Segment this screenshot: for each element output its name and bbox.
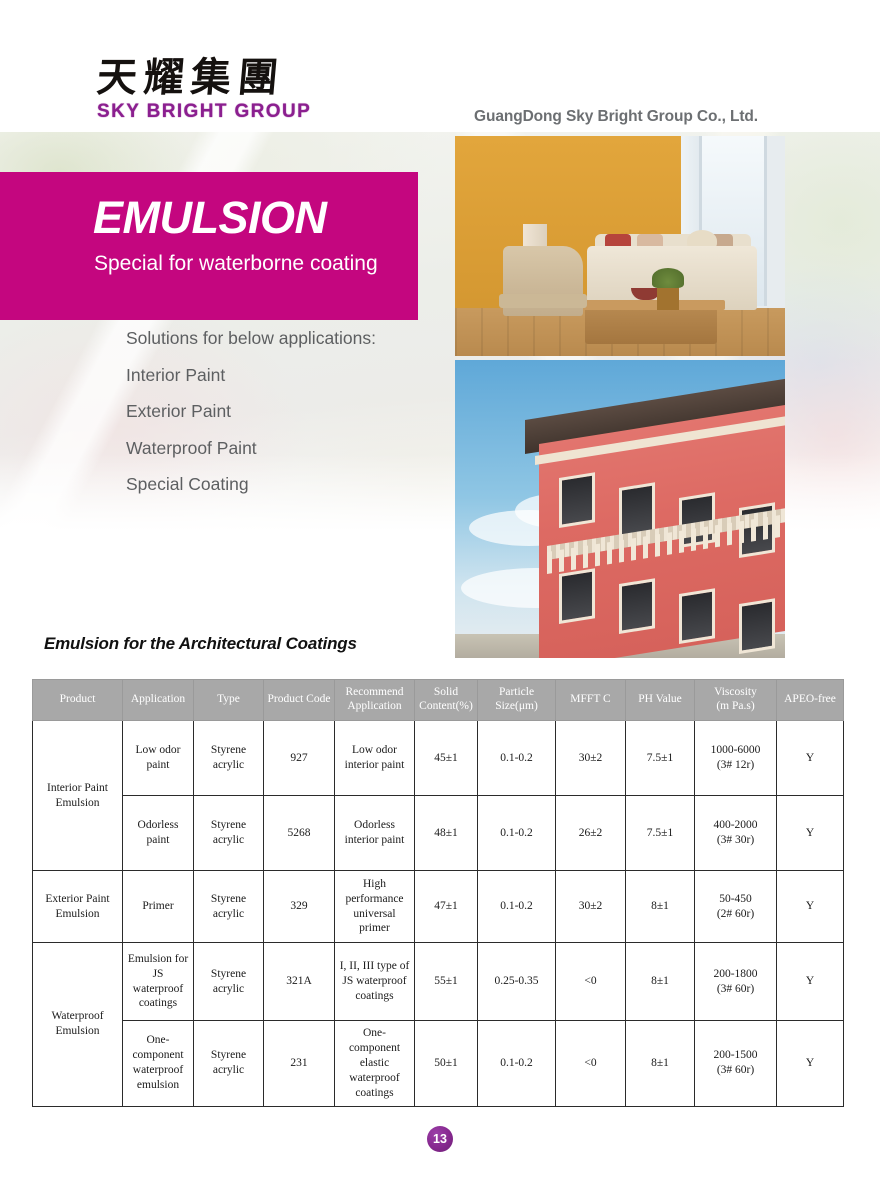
- col-header-application: Application: [123, 680, 194, 721]
- cell-viscosity-range: 200-1500: [713, 1049, 757, 1061]
- cell-ph-value: 8±1: [626, 871, 695, 943]
- col-header-viscosity: Viscosity (m Pa.s): [695, 680, 777, 721]
- cell-apeo-free: Y: [777, 871, 844, 943]
- cell-viscosity: 1000-6000 (3# 12r): [695, 721, 777, 796]
- cell-type: Styrene acrylic: [194, 871, 264, 943]
- cell-ph-value: 8±1: [626, 1021, 695, 1107]
- cell-viscosity-spindle: (3# 12r): [717, 759, 754, 771]
- col-header-solid-line2: Content(%): [419, 700, 473, 712]
- col-header-viscosity-line1: Viscosity: [714, 686, 757, 698]
- building-window-8: [739, 598, 775, 654]
- cell-apeo-free: Y: [777, 721, 844, 796]
- col-header-recommend-line2: Application: [347, 700, 401, 712]
- col-header-recommend-line1: Recommend: [345, 686, 403, 698]
- cell-particle-size: 0.1-0.2: [478, 871, 556, 943]
- logo-chinese-text: 天耀集團: [95, 58, 368, 98]
- cell-viscosity: 200-1500 (3# 60r): [695, 1021, 777, 1107]
- col-header-mfft: MFFT C: [556, 680, 626, 721]
- cell-type: Styrene acrylic: [194, 796, 264, 871]
- exterior-building-photo: [455, 360, 785, 658]
- cell-viscosity-range: 400-2000: [713, 819, 757, 831]
- cell-viscosity: 50-450 (2# 60r): [695, 871, 777, 943]
- col-header-particle-size: Particle Size(μm): [478, 680, 556, 721]
- col-header-product: Product: [33, 680, 123, 721]
- cell-viscosity-range: 1000-6000: [711, 744, 761, 756]
- cell-recommend-application: Low odor interior paint: [335, 721, 415, 796]
- cell-product-code: 329: [264, 871, 335, 943]
- cell-viscosity-range: 200-1800: [713, 968, 757, 980]
- table-row: Odorless paint Styrene acrylic 5268 Odor…: [33, 796, 844, 871]
- table-row: Interior Paint Emulsion Low odor paint S…: [33, 721, 844, 796]
- col-header-product-code: Product Code: [264, 680, 335, 721]
- building-window-6: [619, 578, 655, 634]
- cell-viscosity: 400-2000 (3# 30r): [695, 796, 777, 871]
- cell-recommend-application: High performance universal primer: [335, 871, 415, 943]
- col-header-solid-line1: Solid: [434, 686, 458, 698]
- cell-viscosity-spindle: (2# 60r): [717, 908, 754, 920]
- cell-solid-content: 45±1: [415, 721, 478, 796]
- room-armchair-seat: [499, 294, 587, 308]
- cell-particle-size: 0.1-0.2: [478, 721, 556, 796]
- table-header-row: Product Application Type Product Code Re…: [33, 680, 844, 721]
- building-scene: [455, 360, 785, 658]
- cell-ph-value: 7.5±1: [626, 796, 695, 871]
- cell-product-group-interior: Interior Paint Emulsion: [33, 721, 123, 871]
- applications-list: Solutions for below applications: Interi…: [126, 330, 446, 513]
- room-scene: [455, 136, 785, 356]
- catalog-page: 天耀集團 SKY BRIGHT GROUP GuangDong Sky Brig…: [0, 0, 880, 1203]
- cell-ph-value: 8±1: [626, 943, 695, 1021]
- cell-application: Low odor paint: [123, 721, 194, 796]
- applications-lead-text: Solutions for below applications:: [126, 330, 446, 348]
- logo-english-text: SKY BRIGHT GROUP: [97, 102, 367, 121]
- hero-subtitle: Special for waterborne coating: [94, 251, 404, 278]
- cell-viscosity-spindle: (3# 30r): [717, 834, 754, 846]
- cell-recommend-application: I, II, III type of JS waterproof coating…: [335, 943, 415, 1021]
- cell-ph-value: 7.5±1: [626, 721, 695, 796]
- cell-mfft: 26±2: [556, 796, 626, 871]
- cell-product-group-exterior: Exterior Paint Emulsion: [33, 871, 123, 943]
- col-header-apeo-free: APEO-free: [777, 680, 844, 721]
- building-window-7: [679, 588, 715, 644]
- hero-title-box: EMULSION Special for waterborne coating: [0, 172, 418, 320]
- cell-particle-size: 0.1-0.2: [478, 796, 556, 871]
- col-header-solid-content: Solid Content(%): [415, 680, 478, 721]
- hero-title: EMULSION: [93, 195, 327, 240]
- page-number-badge: 13: [427, 1126, 453, 1152]
- cell-type: Styrene acrylic: [194, 1021, 264, 1107]
- cell-recommend-application: One-component elastic waterproof coating…: [335, 1021, 415, 1107]
- company-logo: 天耀集團 SKY BRIGHT GROUP: [97, 58, 367, 121]
- cell-application: Primer: [123, 871, 194, 943]
- room-table-top: [579, 300, 725, 310]
- application-item-exterior: Exterior Paint: [126, 403, 446, 421]
- cell-viscosity-range: 50-450: [719, 893, 752, 905]
- interior-room-photo: [455, 136, 785, 356]
- cell-apeo-free: Y: [777, 1021, 844, 1107]
- cell-product-code: 927: [264, 721, 335, 796]
- cell-mfft: 30±2: [556, 721, 626, 796]
- cell-apeo-free: Y: [777, 796, 844, 871]
- cell-recommend-application: Odorless interior paint: [335, 796, 415, 871]
- cell-product-code: 5268: [264, 796, 335, 871]
- page-header: 天耀集團 SKY BRIGHT GROUP GuangDong Sky Brig…: [0, 0, 880, 132]
- table-row: Waterproof Emulsion Emulsion for JS wate…: [33, 943, 844, 1021]
- cell-mfft: <0: [556, 943, 626, 1021]
- building-window-5: [559, 568, 595, 624]
- cell-product-code: 231: [264, 1021, 335, 1107]
- col-header-viscosity-line2: (m Pa.s): [716, 700, 754, 712]
- application-item-interior: Interior Paint: [126, 367, 446, 385]
- cell-mfft: 30±2: [556, 871, 626, 943]
- col-header-type: Type: [194, 680, 264, 721]
- cell-mfft: <0: [556, 1021, 626, 1107]
- spec-table-wrapper: Product Application Type Product Code Re…: [32, 679, 843, 1107]
- application-item-special: Special Coating: [126, 476, 446, 494]
- cell-viscosity-spindle: (3# 60r): [717, 983, 754, 995]
- emulsion-spec-table: Product Application Type Product Code Re…: [32, 679, 844, 1107]
- cell-application: Emulsion for JS waterproof coatings: [123, 943, 194, 1021]
- cell-solid-content: 55±1: [415, 943, 478, 1021]
- col-header-recommend-application: Recommend Application: [335, 680, 415, 721]
- room-plant: [657, 284, 679, 310]
- cell-application: One-component waterproof emulsion: [123, 1021, 194, 1107]
- cell-solid-content: 48±1: [415, 796, 478, 871]
- cell-product-group-waterproof: Waterproof Emulsion: [33, 943, 123, 1107]
- room-coffee-table: [585, 304, 717, 344]
- section-title: Emulsion for the Architectural Coatings: [44, 634, 357, 654]
- cell-application: Odorless paint: [123, 796, 194, 871]
- cell-viscosity: 200-1800 (3# 60r): [695, 943, 777, 1021]
- building-window-1: [559, 472, 595, 528]
- cell-solid-content: 50±1: [415, 1021, 478, 1107]
- cell-particle-size: 0.25-0.35: [478, 943, 556, 1021]
- cell-type: Styrene acrylic: [194, 721, 264, 796]
- application-item-waterproof: Waterproof Paint: [126, 440, 446, 458]
- table-row: One-component waterproof emulsion Styren…: [33, 1021, 844, 1107]
- cell-viscosity-spindle: (3# 60r): [717, 1064, 754, 1076]
- cell-product-code: 321A: [264, 943, 335, 1021]
- cell-solid-content: 47±1: [415, 871, 478, 943]
- cell-type: Styrene acrylic: [194, 943, 264, 1021]
- table-row: Exterior Paint Emulsion Primer Styrene a…: [33, 871, 844, 943]
- col-header-ph-value: PH Value: [626, 680, 695, 721]
- cell-particle-size: 0.1-0.2: [478, 1021, 556, 1107]
- company-full-name: GuangDong Sky Bright Group Co., Ltd.: [474, 108, 758, 126]
- cell-apeo-free: Y: [777, 943, 844, 1021]
